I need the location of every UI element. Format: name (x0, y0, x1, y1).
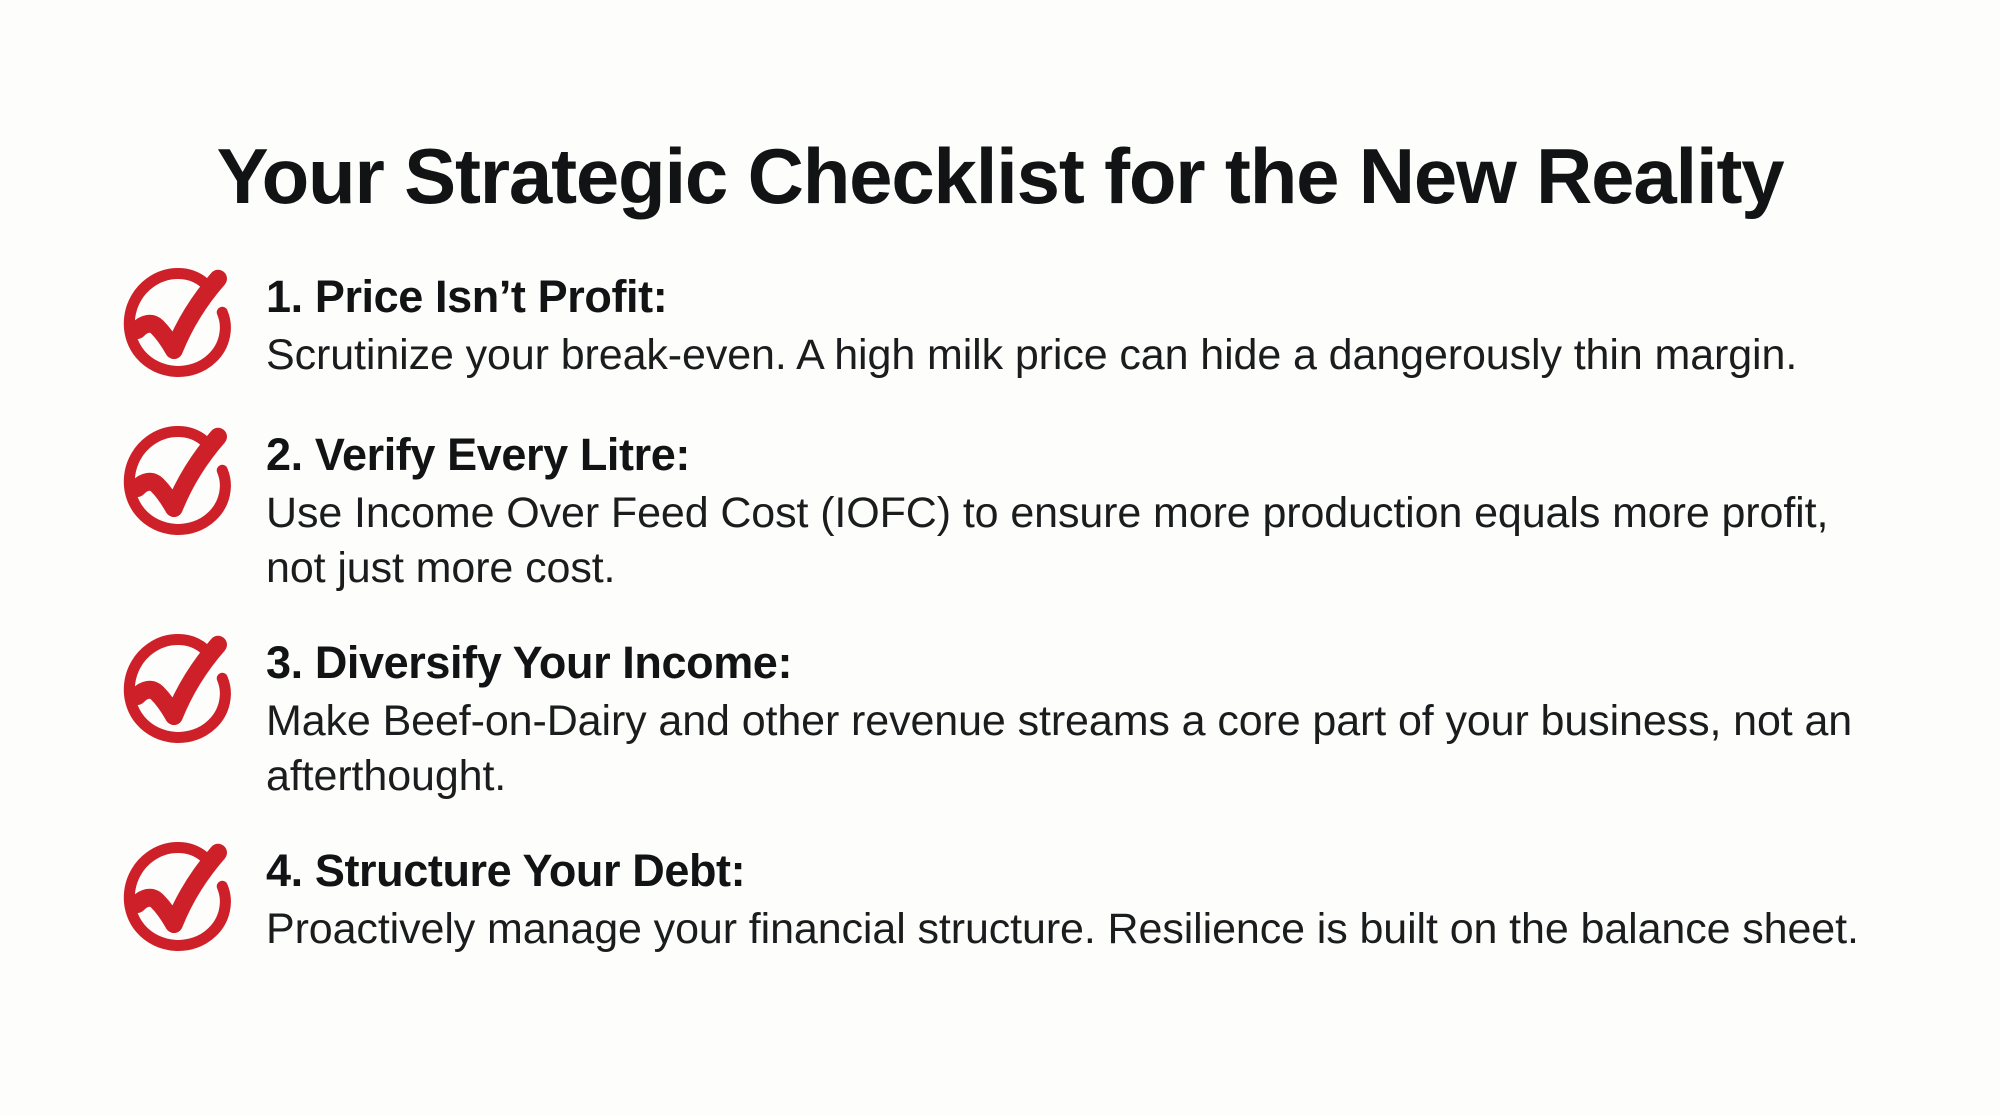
list-item: 1. Price Isn’t Profit: Scrutinize your b… (112, 262, 1902, 390)
list-item-text: Proactively manage your financial struct… (266, 902, 1886, 957)
list-item-body: 3. Diversify Your Income: Make Beef-on-D… (266, 628, 1886, 804)
checklist: 1. Price Isn’t Profit: Scrutinize your b… (112, 262, 1902, 964)
slide-canvas: Your Strategic Checklist for the New Rea… (0, 0, 2000, 1116)
list-item: 2. Verify Every Litre: Use Income Over F… (112, 420, 1902, 596)
list-item-heading: 2. Verify Every Litre: (266, 428, 1886, 481)
red-check-circle-icon (112, 838, 238, 964)
red-check-circle-icon (112, 422, 238, 548)
list-item-body: 2. Verify Every Litre: Use Income Over F… (266, 420, 1886, 596)
list-item-text: Make Beef-on-Dairy and other revenue str… (266, 694, 1886, 804)
list-item-heading: 1. Price Isn’t Profit: (266, 270, 1886, 323)
list-item-text: Scrutinize your break-even. A high milk … (266, 328, 1886, 383)
list-item: 3. Diversify Your Income: Make Beef-on-D… (112, 628, 1902, 804)
list-item-text: Use Income Over Feed Cost (IOFC) to ensu… (266, 486, 1886, 596)
red-check-circle-icon (112, 264, 238, 390)
list-item-heading: 4. Structure Your Debt: (266, 844, 1886, 897)
page-title: Your Strategic Checklist for the New Rea… (0, 134, 2000, 218)
list-item-body: 4. Structure Your Debt: Proactively mana… (266, 836, 1886, 957)
red-check-circle-icon (112, 630, 238, 756)
list-item: 4. Structure Your Debt: Proactively mana… (112, 836, 1902, 964)
list-item-heading: 3. Diversify Your Income: (266, 636, 1886, 689)
list-item-body: 1. Price Isn’t Profit: Scrutinize your b… (266, 262, 1886, 383)
